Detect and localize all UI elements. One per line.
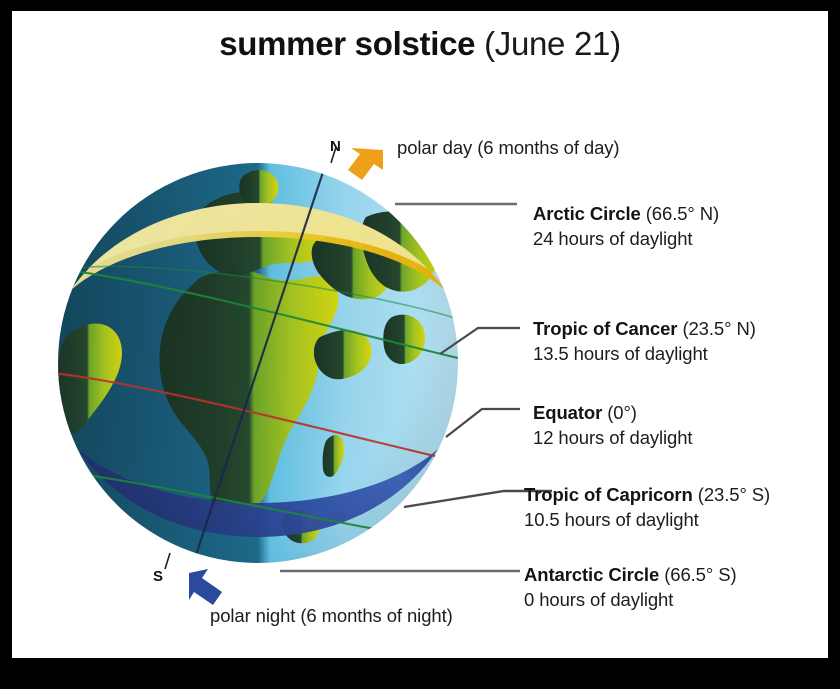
pole-tick-marks [48, 141, 468, 581]
callout-antarctic-circle: Antarctic Circle (66.5° S) 0 hours of da… [524, 564, 737, 611]
annotation-polar-night: polar night (6 months of night) [210, 605, 453, 627]
callout-tropic-of-capricorn: Tropic of Capricorn (23.5° S) 10.5 hours… [524, 484, 770, 531]
title-light-part: (June 21) [484, 25, 621, 62]
callout-tropic-of-cancer: Tropic of Cancer (23.5° N) 13.5 hours of… [533, 318, 756, 365]
callout-cancer-coord: (23.5° N) [682, 318, 755, 339]
callout-capricorn-name: Tropic of Capricorn [524, 484, 693, 505]
callout-cancer-daylight: 13.5 hours of daylight [533, 343, 756, 365]
diagram-canvas: summer solstice (June 21) [12, 11, 828, 658]
callout-equator-coord: (0°) [607, 402, 637, 423]
callout-arctic-daylight: 24 hours of daylight [533, 228, 719, 250]
callout-equator-name: Equator [533, 402, 602, 423]
callout-capricorn-coord: (23.5° S) [698, 484, 770, 505]
callout-equator-daylight: 12 hours of daylight [533, 427, 692, 449]
callout-antarctic-coord: (66.5° S) [664, 564, 736, 585]
callout-arctic-circle: Arctic Circle (66.5° N) 24 hours of dayl… [533, 203, 719, 250]
north-pole-label: N [330, 138, 341, 155]
arrow-down-left-icon [342, 147, 388, 192]
annotation-polar-day: polar day (6 months of day) [397, 137, 620, 159]
callout-arctic-coord: (66.5° N) [646, 203, 719, 224]
callout-antarctic-daylight: 0 hours of daylight [524, 589, 737, 611]
south-pole-tick [165, 553, 170, 569]
callout-cancer-name: Tropic of Cancer [533, 318, 677, 339]
callout-capricorn-daylight: 10.5 hours of daylight [524, 509, 770, 531]
callout-equator: Equator (0°) 12 hours of daylight [533, 402, 692, 449]
page-title: summer solstice (June 21) [12, 25, 828, 63]
callout-antarctic-name: Antarctic Circle [524, 564, 659, 585]
south-pole-label: S [153, 568, 163, 585]
image-frame: summer solstice (June 21) [0, 0, 840, 689]
callout-arctic-name: Arctic Circle [533, 203, 641, 224]
earth-globe-illustration [48, 141, 468, 581]
title-bold-part: summer solstice [219, 25, 475, 62]
